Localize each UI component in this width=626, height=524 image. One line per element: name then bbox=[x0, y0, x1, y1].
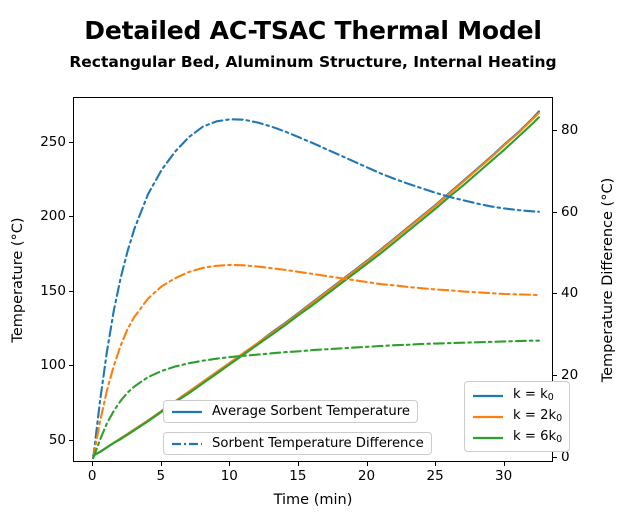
x-tick-label: 10 bbox=[221, 468, 238, 484]
x-tick-label: 5 bbox=[157, 468, 166, 484]
y-axis-left-label: Temperature (°C) bbox=[8, 97, 28, 462]
y-axis-right-label-text: Temperature Difference (°C) bbox=[600, 177, 616, 382]
legend-dashdot-line-swatch bbox=[171, 438, 203, 450]
y-left-tick-label-wrap: 200 bbox=[28, 216, 66, 232]
y-axis-right-label: Temperature Difference (°C) bbox=[598, 97, 618, 462]
legend-label-subscript: 0 bbox=[556, 434, 562, 445]
legend-solid-line-swatch bbox=[472, 390, 504, 402]
legend-label-conductivity: k = 2k0 bbox=[513, 409, 562, 424]
legend-label-conductivity: k = 6k0 bbox=[513, 430, 562, 445]
x-tick-label: 15 bbox=[289, 468, 306, 484]
y-right-tick-label-wrap: 40 bbox=[561, 293, 578, 309]
y-left-tick-label: 100 bbox=[28, 357, 66, 373]
legend-row: k = 2k0 bbox=[465, 406, 569, 427]
x-tick-label: 30 bbox=[495, 468, 512, 484]
y-right-tick-label-wrap: 0 bbox=[561, 457, 570, 473]
y-right-tick-label-wrap: 60 bbox=[561, 212, 578, 228]
legend-solid-line-swatch bbox=[472, 432, 504, 444]
y-axis-left-label-text: Temperature (°C) bbox=[10, 217, 26, 342]
y-left-tick-label: 150 bbox=[28, 283, 66, 299]
legend-label-average-sorbent-temperature: Average Sorbent Temperature bbox=[212, 405, 410, 418]
y-right-tick-label: 40 bbox=[561, 285, 578, 301]
legend-label-conductivity: k = k0 bbox=[513, 388, 554, 403]
x-tick-label: 20 bbox=[358, 468, 375, 484]
legend-sorbent-temperature-difference[interactable]: Sorbent Temperature Difference bbox=[163, 432, 432, 455]
x-axis-label: Time (min) bbox=[73, 492, 553, 508]
legend-solid-line-swatch bbox=[472, 411, 504, 423]
legend-row: k = 6k0 bbox=[465, 427, 569, 448]
legend-row: Average Sorbent Temperature bbox=[164, 401, 417, 422]
legend-label-subscript: 0 bbox=[556, 413, 562, 424]
y-left-tick-label: 50 bbox=[28, 432, 66, 448]
figure-canvas: Detailed AC-TSAC Thermal Model Rectangul… bbox=[0, 0, 626, 524]
legend-average-sorbent-temperature[interactable]: Average Sorbent Temperature bbox=[163, 400, 418, 423]
x-tick-label: 0 bbox=[88, 468, 97, 484]
y-right-tick-label: 80 bbox=[561, 122, 578, 138]
y-left-tick-label: 200 bbox=[28, 208, 66, 224]
legend-label-subscript: 0 bbox=[548, 392, 554, 403]
y-right-tick-label: 60 bbox=[561, 204, 578, 220]
legend-row: k = k0 bbox=[465, 385, 569, 406]
legend-conductivity-series[interactable]: k = k0k = 2k0k = 6k0 bbox=[464, 381, 570, 452]
x-tick-label: 25 bbox=[427, 468, 444, 484]
y-left-tick-label-wrap: 100 bbox=[28, 365, 66, 381]
y-right-tick-label-wrap: 80 bbox=[561, 130, 578, 146]
y-left-tick-label-wrap: 250 bbox=[28, 142, 66, 158]
y-left-tick-label-wrap: 50 bbox=[28, 440, 66, 456]
y-left-tick-label-wrap: 150 bbox=[28, 291, 66, 307]
chart-title: Detailed AC-TSAC Thermal Model bbox=[0, 16, 626, 45]
legend-row: Sorbent Temperature Difference bbox=[164, 433, 431, 454]
chart-subtitle: Rectangular Bed, Aluminum Structure, Int… bbox=[0, 53, 626, 71]
legend-solid-line-swatch bbox=[171, 406, 203, 418]
y-left-tick-label: 250 bbox=[28, 134, 66, 150]
legend-label-sorbent-temperature-difference: Sorbent Temperature Difference bbox=[212, 437, 424, 450]
